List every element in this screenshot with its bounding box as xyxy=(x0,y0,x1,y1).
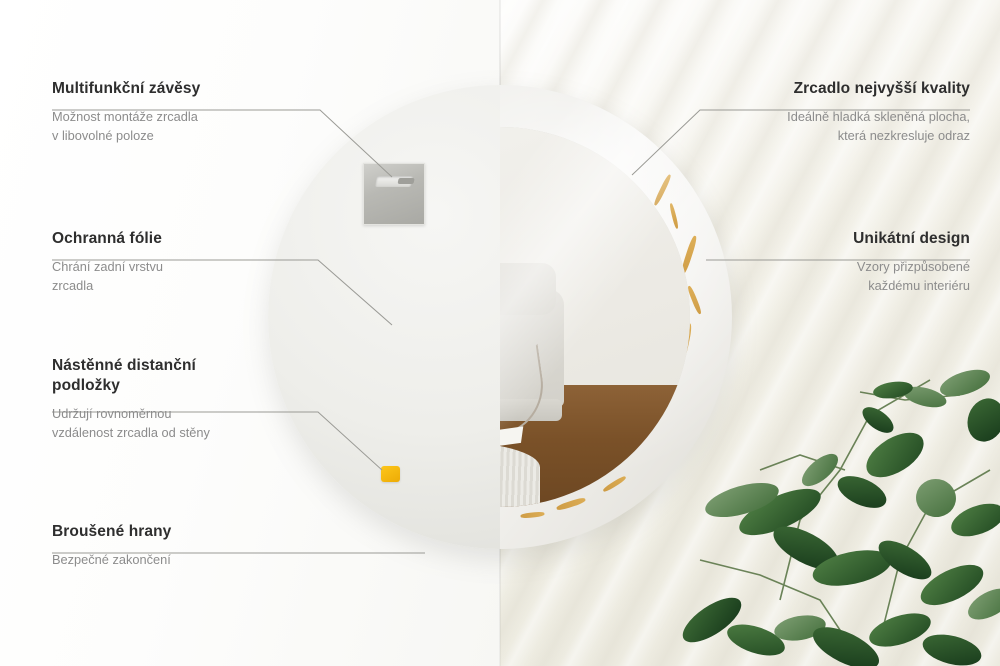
callout-title: Multifunkční závěsy xyxy=(52,79,200,99)
callout-brousene-hrany: Broušené hrany Bezpečné zakončení xyxy=(52,522,171,570)
callout-title: Unikátní design xyxy=(853,229,970,249)
callout-body: Udržují rovnoměrnou vzdálenost zrcadla o… xyxy=(52,405,210,442)
callout-unikatni-design: Unikátní design Vzory přizpůsobené každé… xyxy=(853,229,970,295)
callout-title: Broušené hrany xyxy=(52,522,171,542)
spacer-pad xyxy=(381,466,400,482)
callout-body: Chrání zadní vrstvu zrcadla xyxy=(52,258,163,295)
callout-ochranna-folie: Ochranná fólie Chrání zadní vrstvu zrcad… xyxy=(52,229,163,295)
hanger-keyhole-slot xyxy=(375,176,413,187)
callout-title: Ochranná fólie xyxy=(52,229,163,249)
round-mirror xyxy=(268,85,732,549)
callout-title: Nástěnné distanční podložky xyxy=(52,356,210,396)
callout-body: Ideálně hladká skleněná plocha, která ne… xyxy=(787,108,970,145)
infographic-canvas: Multifunkční závěsy Možnost montáže zrca… xyxy=(0,0,1000,666)
callout-body: Bezpečné zakončení xyxy=(52,551,171,570)
hanger-bracket xyxy=(363,163,425,225)
callout-nastenne-distancni-podlozky: Nástěnné distanční podložky Udržují rovn… xyxy=(52,356,210,442)
callout-body: Vzory přizpůsobené každému interiéru xyxy=(853,258,970,295)
callout-zrcadlo-nejvyssi-kvality: Zrcadlo nejvyšší kvality Ideálně hladká … xyxy=(787,79,970,145)
callout-multifunkcni-zavesy: Multifunkční závěsy Možnost montáže zrca… xyxy=(52,79,200,145)
callout-title: Zrcadlo nejvyšší kvality xyxy=(787,79,970,99)
callout-body: Možnost montáže zrcadla v libovolné polo… xyxy=(52,108,200,145)
